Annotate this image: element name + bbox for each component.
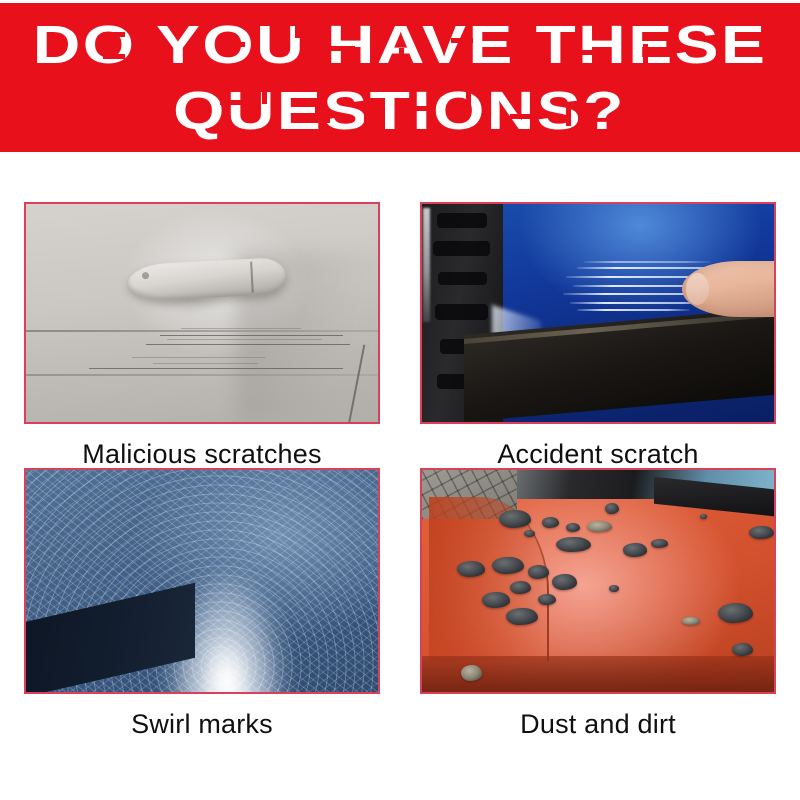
caption-dust-and-dirt: Dust and dirt [420,694,776,740]
header-banner: DO YOU HAVE THESE QUESTIONS? [0,3,800,152]
card-swirl-marks[interactable]: Swirl marks [24,468,380,740]
dirt-spot [482,592,510,608]
fingernail [686,273,709,305]
scratch-line [167,339,322,340]
scratch-line [153,363,259,364]
dirt-spot [528,565,549,578]
finger [682,261,776,318]
dirt-spot [524,530,535,537]
header-line-2-wrap: QUESTIONS? [214,84,585,138]
scratch-line [181,328,301,329]
handle-keyhole [142,272,149,279]
dirt-spot [609,585,620,592]
dirt-spot [700,514,707,518]
tire-tread [433,241,490,256]
scratch-line [584,261,711,263]
photo-accident-scratch [420,202,776,424]
dirt-spot [587,521,612,532]
poster-page: DO YOU HAVE THESE QUESTIONS? [0,0,800,800]
header-line-2: QUESTIONS? [174,84,627,138]
dirt-spot [732,643,753,656]
scratch-line [146,344,350,345]
tire-tread [437,213,487,228]
scratch-line [132,357,266,358]
problem-grid: Malicious scratches [0,152,800,800]
dirt-spot [682,617,700,626]
tire-tread [435,304,488,319]
card-accident-scratch[interactable]: Accident scratch [420,202,776,470]
card-malicious-scratches[interactable]: Malicious scratches [24,202,380,470]
dirt-spot [538,594,556,605]
photo-swirl-marks [24,468,380,694]
header-line-1: DO YOU HAVE THESE [33,18,768,72]
dirt-spot [566,523,580,532]
card-dust-and-dirt[interactable]: Dust and dirt [420,468,776,740]
caption-accident-scratch: Accident scratch [420,424,776,470]
photo-malicious-scratches [24,202,380,424]
scratch-line [577,309,690,311]
photo-dust-and-dirt [420,468,776,694]
dirt-spot [651,539,669,548]
dirt-spot [457,561,485,577]
dirt-spot [461,665,482,681]
dirt-spot [718,603,753,623]
scratch-line [160,335,343,336]
header-line-1-wrap: DO YOU HAVE THESE [99,18,701,84]
caption-swirl-marks: Swirl marks [24,694,380,740]
dirt-spot [556,537,591,553]
scratch-line [89,368,342,369]
dirt-spot [499,510,531,528]
dirt-spot [552,574,577,590]
dirt-spot [623,543,648,556]
door-body-line [26,330,378,332]
dirt-spot [605,503,619,514]
dirt-spot [749,526,774,539]
door-body-line [26,374,378,376]
tire-tread [438,272,487,285]
caption-malicious-scratches: Malicious scratches [24,424,380,470]
dirt-spot [542,517,560,528]
tire-highlight [423,208,430,321]
